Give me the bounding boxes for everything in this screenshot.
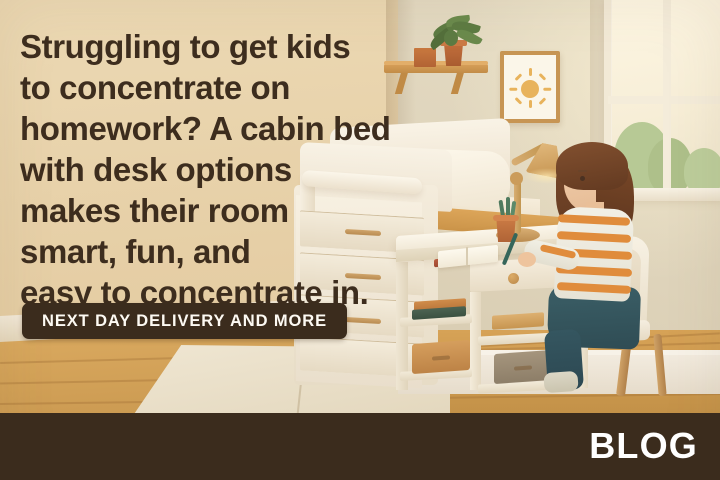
- girl-eye: [580, 176, 585, 181]
- girl-hair-top: [556, 142, 628, 190]
- headline-line: smart, fun, and: [20, 231, 420, 272]
- headline-line: with desk options: [20, 149, 420, 190]
- lamp-joint: [510, 172, 523, 185]
- page-title: Struggling to get kids to concentrate on…: [20, 26, 420, 313]
- headline-line: Struggling to get kids: [20, 26, 420, 67]
- headline-line: homework? A cabin bed: [20, 108, 420, 149]
- notebook-spine: [466, 247, 468, 265]
- girl-sock: [543, 371, 578, 393]
- sun-ray: [509, 88, 517, 91]
- headline-line: makes their room: [20, 190, 420, 231]
- blog-banner: Struggling to get kids to concentrate on…: [0, 0, 720, 480]
- sun-ray: [529, 100, 532, 108]
- girl-eyebrow: [578, 170, 587, 172]
- blog-label: BLOG: [589, 424, 698, 468]
- sun-ray: [543, 88, 551, 91]
- plant-leaf-icon: [444, 30, 458, 46]
- sun-ray: [529, 68, 532, 76]
- pencil-cup-rim: [493, 215, 519, 221]
- girl-hand: [518, 252, 536, 267]
- next-day-delivery-button[interactable]: NEXT DAY DELIVERY AND MORE: [22, 303, 347, 339]
- sun-icon: [521, 80, 539, 98]
- headline-line: to concentrate on: [20, 67, 420, 108]
- desk-drawer-knob[interactable]: [508, 273, 519, 284]
- window-mullion-horizontal: [608, 96, 720, 104]
